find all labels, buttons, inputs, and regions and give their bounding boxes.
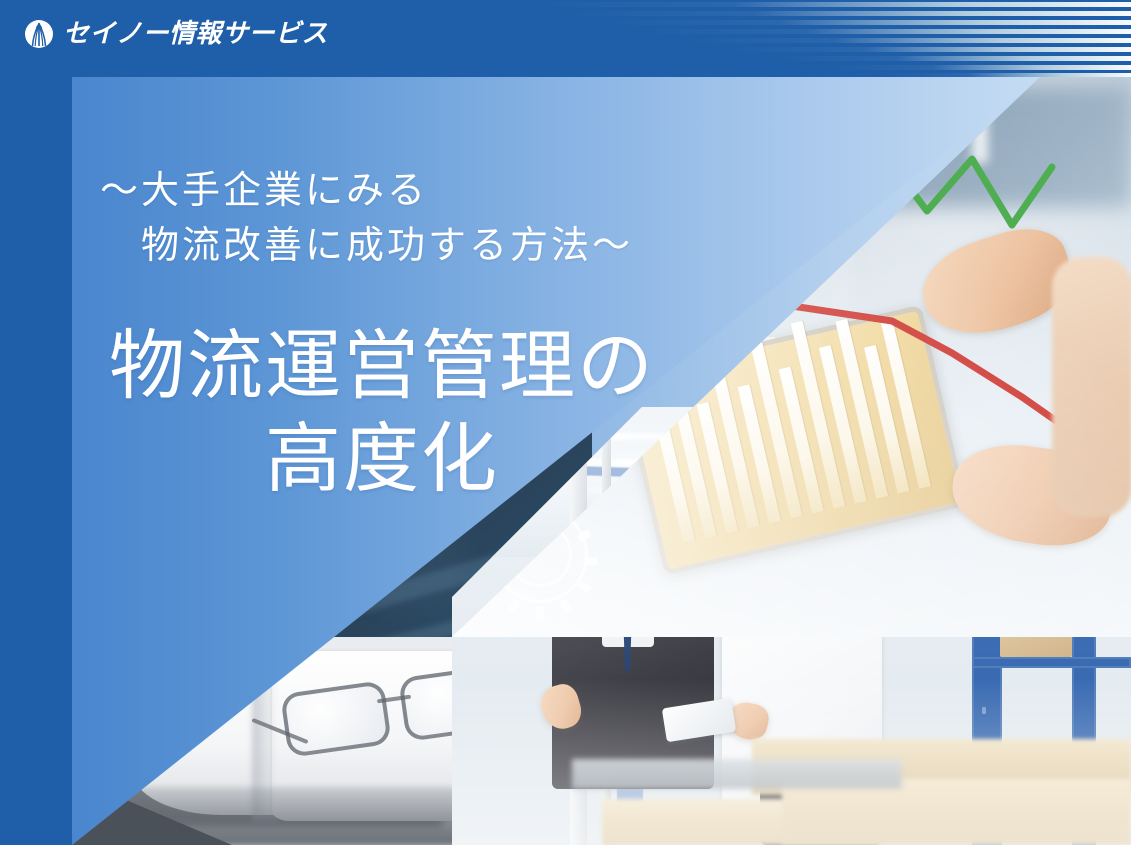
seino-circle-mark-icon bbox=[24, 19, 54, 49]
company-logo-text: セイノー情報サービス bbox=[63, 19, 328, 49]
page-header: セイノー情報サービス bbox=[0, 0, 1131, 77]
company-logo[interactable]: セイノー情報サービス bbox=[24, 19, 328, 49]
hero-panel: 〜大手企業にみる 物流改善に成功する方法〜 物流運営管理の 高度化 bbox=[72, 77, 1131, 845]
header-stripe-decoration bbox=[511, 0, 1131, 77]
slide-canvas: 〜大手企業にみる 物流改善に成功する方法〜 物流運営管理の 高度化 bbox=[0, 0, 1131, 845]
left-margin-bar bbox=[0, 77, 72, 845]
